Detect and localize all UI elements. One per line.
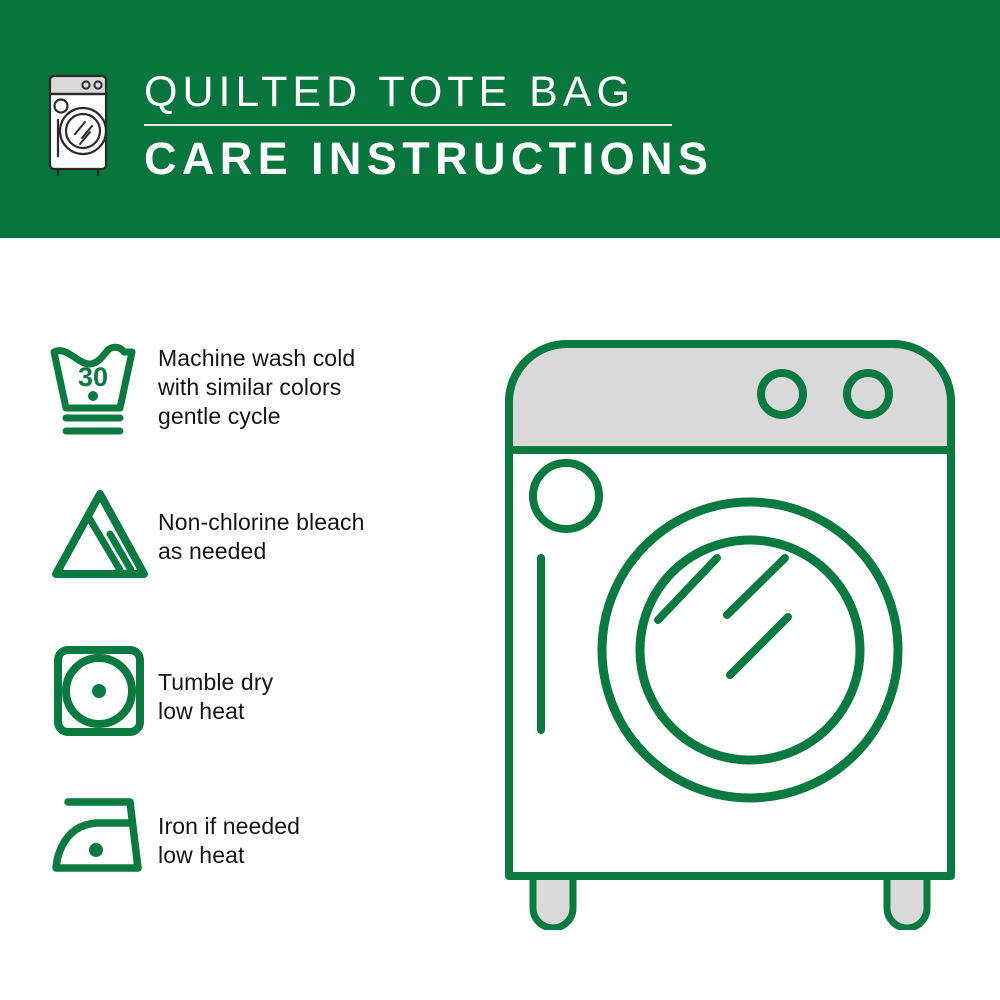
header-banner: QUILTED TOTE BAG CARE INSTRUCTIONS [0,0,1000,238]
wash-temperature-label: 30 [78,362,108,392]
care-row-iron: Iron if needed low heat [46,790,466,876]
care-text-iron: Iron if needed low heat [158,790,300,870]
care-text-wash: Machine wash cold with similar colors ge… [158,342,355,431]
header-title-block: QUILTED TOTE BAG CARE INSTRUCTIONS [144,66,844,185]
care-instruction-list: 30 Machine wash cold with similar colors… [0,238,470,1000]
tumble-dry-low-heat-icon [46,642,158,742]
non-chlorine-bleach-triangle-icon [46,486,158,582]
care-instructions-infographic: QUILTED TOTE BAG CARE INSTRUCTIONS 30 [0,0,1000,1000]
care-text-tumble-dry: Tumble dry low heat [158,642,273,726]
page-title-line1: QUILTED TOTE BAG [144,66,844,118]
control-panel [509,344,951,450]
title-divider [144,124,672,126]
iron-low-heat-icon [46,790,158,876]
care-row-bleach: Non-chlorine bleach as needed [46,486,466,582]
care-text-bleach: Non-chlorine bleach as needed [158,486,364,566]
machine-wash-30-gentle-icon: 30 [46,342,158,442]
care-row-tumble-dry: Tumble dry low heat [46,642,466,742]
front-load-washing-machine-illustration [495,330,965,930]
page-title-line2: CARE INSTRUCTIONS [144,133,844,185]
care-row-wash: 30 Machine wash cold with similar colors… [46,342,466,442]
washing-machine-icon [44,68,116,178]
